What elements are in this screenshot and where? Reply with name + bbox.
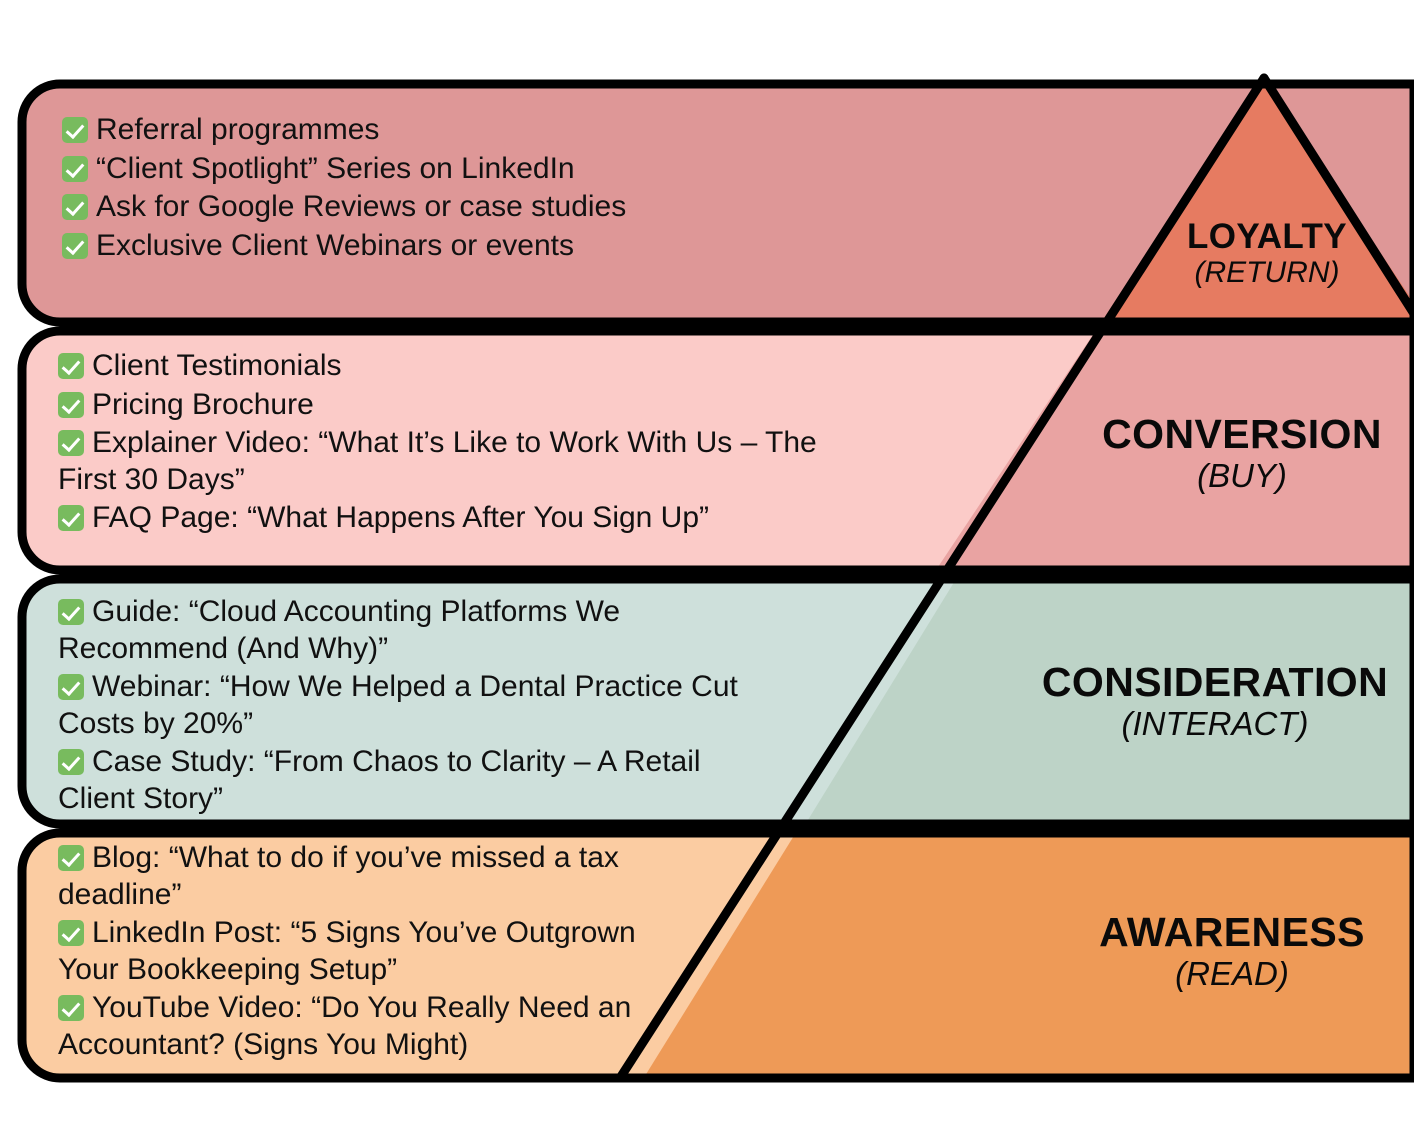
green-check-icon bbox=[58, 674, 84, 700]
checklist-item-label: Case Study: “From Chaos to Clarity – A R… bbox=[58, 745, 701, 815]
checklist-item: Referral programmes bbox=[62, 112, 762, 149]
checklist-item-label: “Client Spotlight” Series on LinkedIn bbox=[96, 152, 575, 185]
green-check-icon bbox=[58, 845, 84, 871]
green-check-icon bbox=[58, 392, 84, 418]
checklist-item: Webinar: “How We Helped a Dental Practic… bbox=[58, 669, 778, 742]
checklist-item: Explainer Video: “What It’s Like to Work… bbox=[58, 425, 858, 498]
funnel-diagram: LOYALTY (RETURN) CONVERSION (BUY) CONSID… bbox=[0, 0, 1414, 1127]
checklist-item: FAQ Page: “What Happens After You Sign U… bbox=[58, 500, 858, 537]
green-check-icon bbox=[62, 194, 88, 220]
checklist-item: LinkedIn Post: “5 Signs You’ve Outgrown … bbox=[58, 915, 688, 988]
checklist-conversion: Client TestimonialsPricing BrochureExpla… bbox=[58, 348, 858, 539]
green-check-icon bbox=[58, 749, 84, 775]
checklist-item-label: Pricing Brochure bbox=[92, 388, 314, 421]
checklist-item-label: Webinar: “How We Helped a Dental Practic… bbox=[58, 670, 738, 740]
checklist-item: Pricing Brochure bbox=[58, 387, 858, 424]
checklist-item-label: Explainer Video: “What It’s Like to Work… bbox=[58, 426, 817, 496]
checklist-awareness: Blog: “What to do if you’ve missed a tax… bbox=[58, 840, 688, 1066]
checklist-item-label: Referral programmes bbox=[96, 113, 379, 146]
checklist-items-consideration: Guide: “Cloud Accounting Platforms We Re… bbox=[58, 594, 778, 818]
checklist-loyalty: Referral programmes“Client Spotlight” Se… bbox=[62, 112, 762, 266]
checklist-item-label: LinkedIn Post: “5 Signs You’ve Outgrown … bbox=[58, 916, 636, 986]
checklist-item: Exclusive Client Webinars or events bbox=[62, 228, 762, 265]
green-check-icon bbox=[58, 920, 84, 946]
checklist-items-conversion: Client TestimonialsPricing BrochureExpla… bbox=[58, 348, 858, 537]
checklist-item: Client Testimonials bbox=[58, 348, 858, 385]
checklist-item: Ask for Google Reviews or case studies bbox=[62, 189, 762, 226]
checklist-item: “Client Spotlight” Series on LinkedIn bbox=[62, 151, 762, 188]
checklist-item: Guide: “Cloud Accounting Platforms We Re… bbox=[58, 594, 778, 667]
checklist-item: Blog: “What to do if you’ve missed a tax… bbox=[58, 840, 688, 913]
green-check-icon bbox=[62, 117, 88, 143]
checklist-consideration: Guide: “Cloud Accounting Platforms We Re… bbox=[58, 594, 778, 820]
green-check-icon bbox=[58, 599, 84, 625]
checklist-item-label: Client Testimonials bbox=[92, 349, 342, 382]
green-check-icon bbox=[62, 233, 88, 259]
checklist-items-awareness: Blog: “What to do if you’ve missed a tax… bbox=[58, 840, 688, 1064]
checklist-item-label: Guide: “Cloud Accounting Platforms We Re… bbox=[58, 595, 620, 665]
green-check-icon bbox=[58, 505, 84, 531]
checklist-item-label: Ask for Google Reviews or case studies bbox=[96, 190, 626, 223]
green-check-icon bbox=[58, 430, 84, 456]
checklist-items-loyalty: Referral programmes“Client Spotlight” Se… bbox=[62, 112, 762, 264]
checklist-item-label: Exclusive Client Webinars or events bbox=[96, 229, 574, 262]
checklist-item-label: FAQ Page: “What Happens After You Sign U… bbox=[92, 501, 709, 534]
green-check-icon bbox=[58, 353, 84, 379]
checklist-item: YouTube Video: “Do You Really Need an Ac… bbox=[58, 990, 688, 1063]
checklist-item-label: Blog: “What to do if you’ve missed a tax… bbox=[58, 841, 619, 911]
green-check-icon bbox=[58, 995, 84, 1021]
green-check-icon bbox=[62, 156, 88, 182]
checklist-item-label: YouTube Video: “Do You Really Need an Ac… bbox=[58, 991, 631, 1061]
checklist-item: Case Study: “From Chaos to Clarity – A R… bbox=[58, 744, 778, 817]
